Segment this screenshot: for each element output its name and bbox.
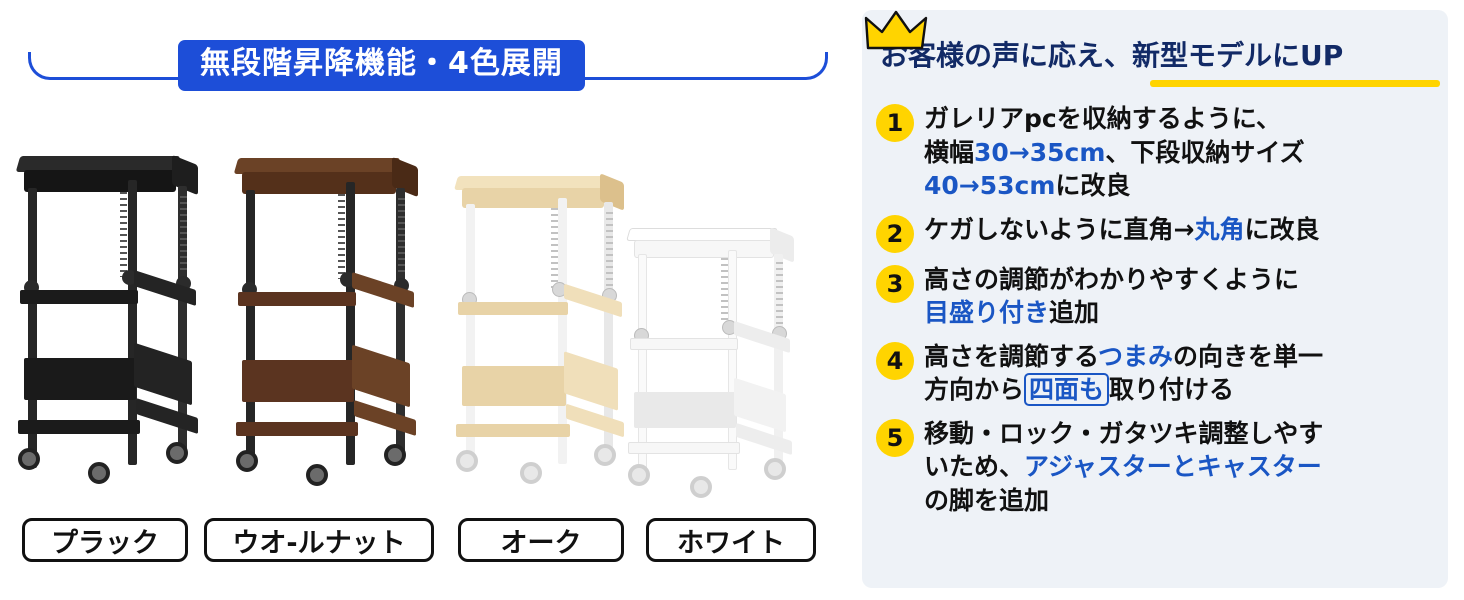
caster-icon [594,444,616,466]
caster-icon [690,476,712,498]
item-text-seg: ガレリアpcを収納するように、 [924,104,1281,133]
list-item: 5 移動・ロック・ガタツキ調整しやす いため、アジャスターとキャスター の脚を追… [876,417,1436,518]
item-text-seg: に改良 [1055,171,1130,200]
product-image-walnut [228,130,428,500]
caster-icon [306,464,328,486]
color-label-oak: オーク [458,518,624,562]
list-item: 1 ガレリアpcを収納するように、 横幅30→35cm、下段収納サイズ 40→5… [876,102,1436,203]
item-number-badge: 3 [876,265,914,303]
item-text-seg: 追加 [1049,298,1099,327]
feature-list: 1 ガレリアpcを収納するように、 横幅30→35cm、下段収納サイズ 40→5… [876,102,1436,527]
caster-icon [236,450,258,472]
list-item: 4 高さを調節するつまみの向きを単一 方向から四面も取り付ける [876,340,1436,407]
feature-banner: 無段階昇降機能・4色展開 [28,22,828,84]
color-label-black: プラック [22,518,188,562]
right-heading-area: お客様の声に応え、新型モデルにUP [880,42,1432,86]
item-text-seg: 高さの調節がわかりやすくように [924,265,1299,294]
color-label-white: ホワイト [646,518,816,562]
item-text: ガレリアpcを収納するように、 横幅30→35cm、下段収納サイズ 40→53c… [924,102,1305,203]
product-image-white [620,210,810,510]
item-text-highlight: 40→53cm [924,171,1055,200]
caster-icon [456,450,478,472]
product-image-oak [448,150,638,500]
caster-icon [628,464,650,486]
item-text-highlight: 30→35cm [974,138,1105,167]
item-text-seg: 高さを調節する [924,342,1098,371]
product-images [0,110,845,500]
item-text-seg: の向きを単一 [1173,342,1323,371]
banner-label: 無段階昇降機能・4色展開 [178,40,585,91]
crown-icon [864,8,928,54]
caster-icon [520,462,542,484]
item-text: 高さの調節がわかりやすくように 目盛り付き追加 [924,263,1299,330]
item-number-badge: 4 [876,342,914,380]
item-text-seg: ケガしないように直角→ [924,215,1194,244]
item-text-seg: の脚を追加 [924,486,1049,515]
color-labels: プラック ウオ-ルナット オーク ホワイト [0,518,845,574]
color-label-walnut: ウオ-ルナット [204,518,434,562]
caster-icon [18,448,40,470]
page-root: 無段階昇降機能・4色展開 [0,0,1464,600]
item-text-seg: いため、 [924,452,1024,481]
item-number-badge: 1 [876,104,914,142]
item-number-badge: 5 [876,419,914,457]
item-text-highlight: アジャスターとキャスター [1024,452,1322,481]
heading-underline [1150,80,1440,87]
item-text: 移動・ロック・ガタツキ調整しやす いため、アジャスターとキャスター の脚を追加 [924,417,1323,518]
item-text-seg: 取り付ける [1109,375,1234,404]
list-item: 3 高さの調節がわかりやすくように 目盛り付き追加 [876,263,1436,330]
item-text-seg: 横幅 [924,138,974,167]
item-number-badge: 2 [876,215,914,253]
item-text-highlight: 目盛り付き [924,298,1049,327]
item-text-highlight: 四面も [1024,373,1109,406]
item-text-seg: に改良 [1244,215,1319,244]
caster-icon [384,444,406,466]
item-text-seg: 移動・ロック・ガタツキ調整しやす [924,419,1323,448]
caster-icon [88,462,110,484]
caster-icon [166,442,188,464]
caster-icon [764,458,786,480]
item-text-seg: 、下段収納サイズ [1105,138,1304,167]
item-text: 高さを調節するつまみの向きを単一 方向から四面も取り付ける [924,340,1323,407]
item-text-highlight: 丸角 [1194,215,1244,244]
product-image-black [10,130,210,500]
item-text: ケガしないように直角→丸角に改良 [924,213,1319,253]
item-text-highlight: つまみ [1098,342,1173,371]
right-heading: お客様の声に応え、新型モデルにUP [880,42,1432,70]
right-panel: お客様の声に応え、新型モデルにUP 1 ガレリアpcを収納するように、 横幅30… [862,10,1448,588]
list-item: 2 ケガしないように直角→丸角に改良 [876,213,1436,253]
left-panel: 無段階昇降機能・4色展開 [0,0,845,600]
item-text-seg: 方向から [924,375,1024,404]
